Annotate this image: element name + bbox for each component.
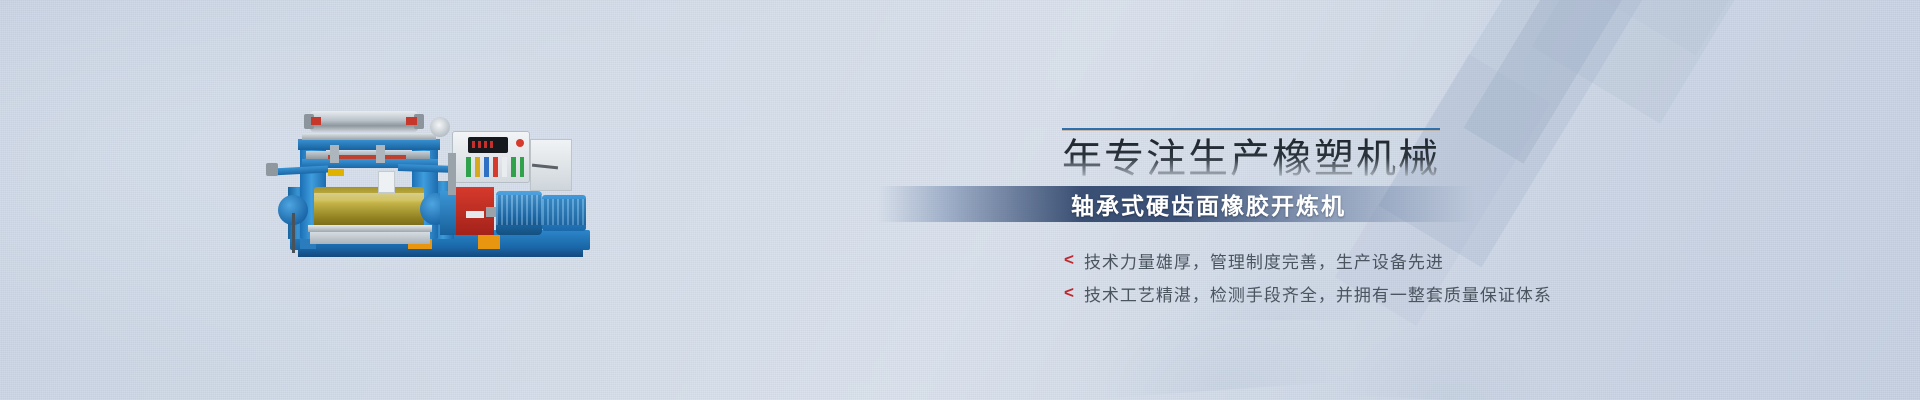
machine-top-beam <box>298 139 440 150</box>
feature-bullet: < 技术力量雄厚，管理制度完善，生产设备先进 <box>1064 248 1444 273</box>
banner-subtitle-bar: 轴承式硬齿面橡胶开炼机 <box>878 186 1476 222</box>
machine-fan <box>430 117 450 137</box>
machine-cable <box>292 213 295 253</box>
machine-motor-secondary-fins <box>542 199 586 225</box>
machine-motor-fins <box>496 195 542 225</box>
feature-bullet: < 技术工艺精湛，检测手段齐全，并拥有一整套质量保证体系 <box>1064 281 1552 306</box>
chevron-left-icon: < <box>1064 251 1074 268</box>
machine-clamp <box>376 145 385 163</box>
machine-top-roller-marker-left <box>311 117 321 125</box>
machine-mid-bar <box>302 133 436 140</box>
machine-yellow-marker <box>328 169 344 176</box>
machine-stop-arm-knob <box>266 163 278 176</box>
machine-roller-highlight <box>314 193 424 203</box>
machine-top-roller-marker-right <box>406 117 417 125</box>
decorative-shape-3 <box>1532 0 1769 124</box>
machine-white-guard <box>378 171 395 193</box>
decorative-blob-3 <box>1328 314 1562 400</box>
headline-divider-rule <box>1062 128 1440 131</box>
rubber-open-mill-machine-image <box>280 95 610 260</box>
machine-panel-indicator-light <box>516 139 524 147</box>
machine-base-shadow <box>298 248 583 257</box>
machine-panel-support-arm <box>448 153 456 195</box>
banner-subtitle: 轴承式硬齿面橡胶开炼机 <box>878 186 1476 222</box>
machine-panel-buttons <box>466 157 524 177</box>
promo-banner: 年专注生产橡塑机械 轴承式硬齿面橡胶开炼机 < 技术力量雄厚，管理制度完善，生产… <box>0 0 1920 400</box>
machine-panel-display-readout <box>472 141 496 148</box>
machine-knife-bar <box>308 225 432 232</box>
decorative-shape-5 <box>1602 0 1789 55</box>
machine-red-box-label <box>466 211 484 218</box>
feature-bullet-text: 技术力量雄厚，管理制度完善，生产设备先进 <box>1084 248 1444 273</box>
decorative-blob-1 <box>1087 291 1353 399</box>
decorative-shape-1 <box>1379 0 1652 267</box>
machine-drip-pan <box>310 232 430 244</box>
machine-top-roller <box>310 111 418 132</box>
banner-headline: 年专注生产橡塑机械 <box>1062 137 1482 182</box>
chevron-left-icon: < <box>1064 284 1074 301</box>
machine-clamp <box>330 145 339 163</box>
machine-base-foot <box>478 235 500 249</box>
feature-bullet-text: 技术工艺精湛，检测手段齐全，并拥有一整套质量保证体系 <box>1084 281 1552 306</box>
decorative-shape-2 <box>1463 0 1626 164</box>
